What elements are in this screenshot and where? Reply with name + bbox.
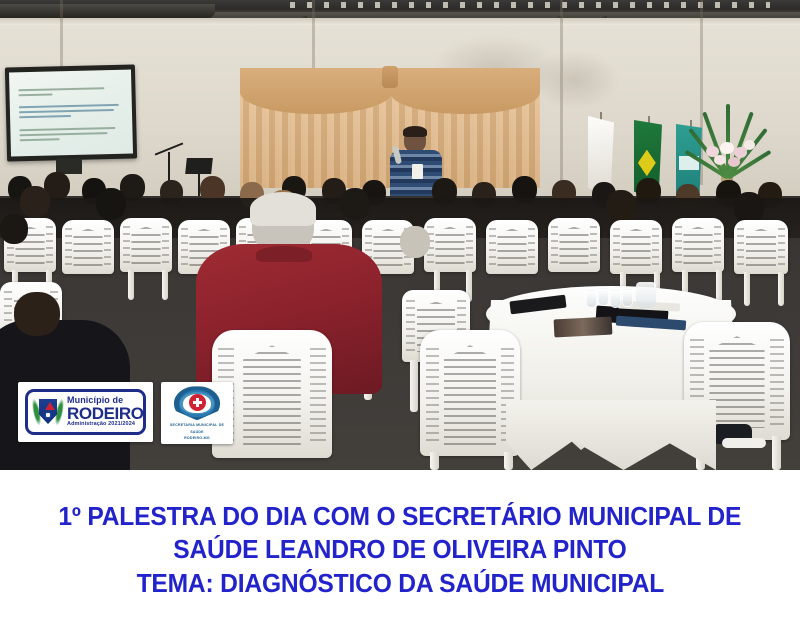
attendee-head xyxy=(606,190,636,222)
wall-stain xyxy=(530,50,620,110)
logo-saude-line2: SAÚDE xyxy=(190,430,204,435)
attendee-shoe xyxy=(722,438,766,448)
logo-administracao-line: Administração 2021/2024 xyxy=(67,422,144,428)
foreground-attendee-left-head xyxy=(14,292,60,336)
flower-bloom xyxy=(720,142,734,154)
flower-bloom xyxy=(728,157,740,167)
chair-leg xyxy=(504,452,513,470)
projector-screen xyxy=(5,64,137,161)
caption-line-1: 1º PALESTRA DO DIA COM O SECRETÁRIO MUNI… xyxy=(59,502,742,533)
roof-perforations xyxy=(290,2,770,8)
heart-cross-icon xyxy=(174,384,220,422)
chair-leg xyxy=(410,360,418,412)
table-photo-print xyxy=(554,316,613,337)
foreground-attendee-collar xyxy=(256,246,312,262)
chair-leg xyxy=(778,272,784,306)
attendee-head xyxy=(340,188,370,220)
curtain-knot xyxy=(382,66,398,88)
water-glass xyxy=(610,290,621,308)
logo-saude-line1: SECRETARIA MUNICIPAL DE xyxy=(170,423,224,428)
wall-ledge xyxy=(0,18,800,25)
speaker-badge xyxy=(412,164,423,179)
curtain-swag-left xyxy=(240,68,392,114)
attendee-head xyxy=(20,186,50,218)
ceiling-duct xyxy=(0,4,215,18)
water-glass xyxy=(586,290,597,308)
flag-brazil-rhombus xyxy=(638,150,656,177)
water-glass xyxy=(622,289,633,307)
foreground-attendee-hair xyxy=(250,192,316,226)
logo-municipio-rodeiro: Município de RODEIRO Administração 2021/… xyxy=(18,382,153,442)
chair xyxy=(610,220,662,274)
flower-bloom xyxy=(744,140,755,150)
logo-secretaria-saude: SECRETARIA MUNICIPAL DE SAÚDE RODEIRO-MG xyxy=(161,382,233,444)
flower-bloom xyxy=(714,155,726,165)
attendee-head xyxy=(0,214,28,244)
logo-saude-line3: RODEIRO-MG xyxy=(184,436,210,441)
curtain-swag-right xyxy=(390,68,540,114)
attendee-head xyxy=(400,226,430,258)
chair-leg xyxy=(430,452,439,470)
attendee-head xyxy=(96,188,126,220)
projector-screen-surface xyxy=(9,70,133,157)
caption-block: 1º PALESTRA DO DIA COM O SECRETÁRIO MUNI… xyxy=(0,470,800,618)
chair-leg xyxy=(772,436,781,470)
chair-leg xyxy=(744,272,750,306)
chair-leg xyxy=(162,270,168,300)
speaker-hair xyxy=(403,126,427,137)
chair xyxy=(424,218,476,272)
water-pitcher xyxy=(636,282,656,308)
water-glass xyxy=(598,288,609,306)
logo-strip: Município de RODEIRO Administração 2021/… xyxy=(18,382,233,444)
chair xyxy=(120,218,172,272)
caption-line-3: TEMA: DIAGNÓSTICO DA SAÚDE MUNICIPAL xyxy=(136,569,664,600)
page-root: Município de RODEIRO Administração 2021/… xyxy=(0,0,800,618)
logo-rodeiro-line: RODEIRO xyxy=(67,405,144,422)
brasao-rodeiro-icon xyxy=(33,395,63,429)
chair xyxy=(672,218,724,272)
caption-line-2: SAÚDE LEANDRO DE OLIVEIRA PINTO xyxy=(173,535,626,566)
chair xyxy=(548,218,600,272)
chair xyxy=(734,220,788,274)
chair xyxy=(486,220,538,274)
chair xyxy=(62,220,114,274)
chair-leg xyxy=(128,270,134,300)
chair-foreground-mid xyxy=(420,330,520,456)
event-photo: Município de RODEIRO Administração 2021/… xyxy=(0,0,800,470)
